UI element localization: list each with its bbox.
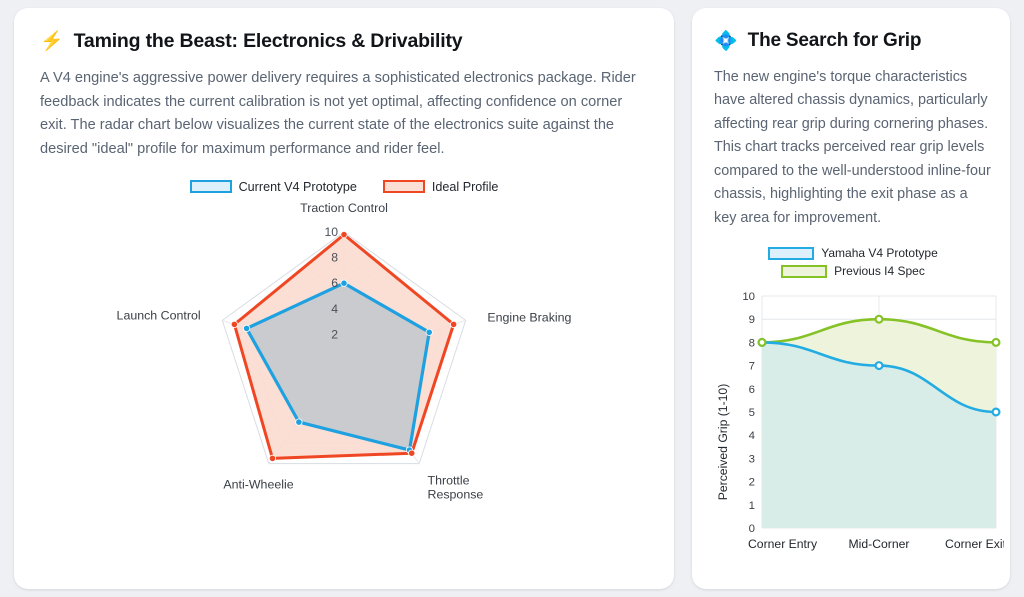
legend-item-previous-i4-spec[interactable]: Previous I4 Spec <box>781 264 925 278</box>
svg-text:9: 9 <box>749 314 755 326</box>
page-root: ⚡ Taming the Beast: Electronics & Drivab… <box>0 0 1024 597</box>
svg-text:8: 8 <box>749 338 755 350</box>
svg-text:3: 3 <box>749 454 755 466</box>
svg-text:Launch Control: Launch Control <box>117 308 201 322</box>
radar-legend: Current V4 Prototype Ideal Profile <box>40 180 648 194</box>
svg-text:6: 6 <box>331 276 338 290</box>
svg-text:Traction Control: Traction Control <box>300 201 388 215</box>
legend-swatch-yamaha-v4-prototype <box>768 247 814 260</box>
legend-item-ideal-profile[interactable]: Ideal Profile <box>383 180 499 194</box>
line-chart-x-ticks: Corner EntryMid-CornerCorner Exit <box>748 537 1004 551</box>
left-card-header: ⚡ Taming the Beast: Electronics & Drivab… <box>40 30 648 53</box>
legend-label-current-v4-prototype: Current V4 Prototype <box>239 180 357 194</box>
svg-text:Corner Entry: Corner Entry <box>748 537 818 551</box>
right-card-paragraph: The new engine's torque characteristics … <box>714 66 992 230</box>
legend-item-current-v4-prototype[interactable]: Current V4 Prototype <box>190 180 357 194</box>
diamond-sparkle-icon: 💠 <box>714 32 738 51</box>
legend-swatch-current-v4-prototype <box>190 180 232 193</box>
legend-item-yamaha-v4-prototype[interactable]: Yamaha V4 Prototype <box>768 246 938 260</box>
legend-label-previous-i4-spec: Previous I4 Spec <box>834 264 925 278</box>
svg-text:1: 1 <box>749 500 755 512</box>
svg-text:2: 2 <box>331 327 338 341</box>
radar-chart: 246810 Traction ControlEngine BrakingThr… <box>40 200 648 520</box>
svg-text:Corner Exit: Corner Exit <box>945 537 1004 551</box>
right-card-header: 💠 The Search for Grip <box>714 30 992 52</box>
svg-text:5: 5 <box>749 407 755 419</box>
left-card-paragraph: A V4 engine's aggressive power delivery … <box>40 67 648 162</box>
svg-text:8: 8 <box>331 250 338 264</box>
svg-text:6: 6 <box>749 384 755 396</box>
line-chart-y-ticks: 012345678910 <box>742 291 755 535</box>
radar-chart-svg: 246810 Traction ControlEngine BrakingThr… <box>44 200 644 510</box>
svg-text:Engine Braking: Engine Braking <box>487 310 571 324</box>
svg-text:Anti-Wheelie: Anti-Wheelie <box>223 477 293 491</box>
svg-text:Mid-Corner: Mid-Corner <box>849 537 910 551</box>
grip-line-chart-svg: 012345678910 Corner EntryMid-CornerCorne… <box>714 282 1004 574</box>
svg-text:10: 10 <box>742 291 755 303</box>
svg-text:10: 10 <box>324 225 338 239</box>
svg-text:2: 2 <box>749 477 755 489</box>
legend-label-yamaha-v4-prototype: Yamaha V4 Prototype <box>821 246 938 260</box>
svg-text:Response: Response <box>428 487 484 501</box>
line-chart-legend: Yamaha V4 Prototype Previous I4 Spec <box>714 246 992 278</box>
svg-text:4: 4 <box>331 301 338 315</box>
legend-swatch-ideal-profile <box>383 180 425 193</box>
svg-text:0: 0 <box>749 523 755 535</box>
line-chart-y-axis-label: Perceived Grip (1-10) <box>716 384 730 501</box>
electronics-drivability-card: ⚡ Taming the Beast: Electronics & Drivab… <box>14 8 674 589</box>
legend-swatch-previous-i4-spec <box>781 265 827 278</box>
svg-text:4: 4 <box>749 430 755 442</box>
page-title: Taming the Beast: Electronics & Drivabil… <box>74 30 463 53</box>
search-for-grip-card: 💠 The Search for Grip The new engine's t… <box>692 8 1010 589</box>
svg-text:Throttle: Throttle <box>428 473 470 487</box>
lightning-bolt-icon: ⚡ <box>40 32 64 51</box>
legend-label-ideal-profile: Ideal Profile <box>432 180 499 194</box>
right-card-title: The Search for Grip <box>748 30 922 52</box>
grip-line-chart: 012345678910 Corner EntryMid-CornerCorne… <box>714 282 992 582</box>
svg-text:7: 7 <box>749 361 755 373</box>
